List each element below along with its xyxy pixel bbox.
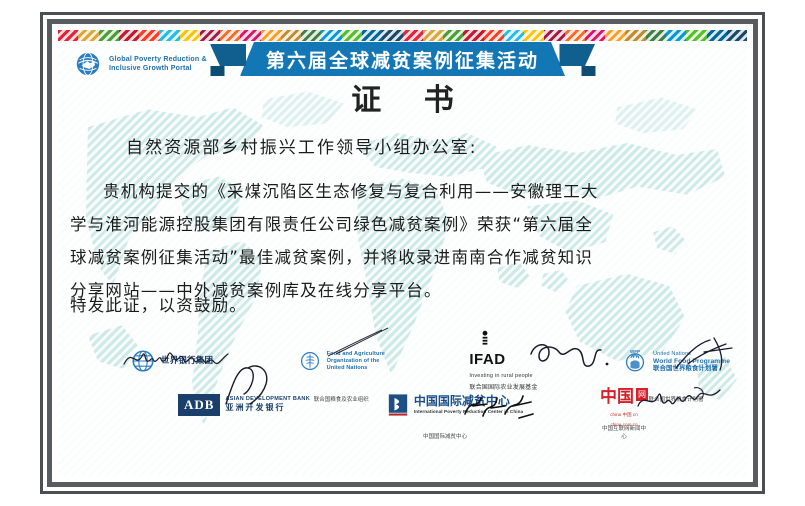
body-line-1: 学与淮河能源控股集团有限责任公司绿色减贫案例》荣获“第六届全 [70, 211, 710, 238]
world-bank-label: 世界银行集团 [161, 357, 213, 365]
org-iprcc: 中国国际减贫中心 International Poverty Reduction… [387, 382, 523, 428]
wfp-hand-icon: WFP [622, 348, 648, 374]
ifad-icon [479, 330, 491, 346]
organization-row-bottom: ADB ASIAN DEVELOPMENT BANK 亚洲开发银行 中国国际减贫… [178, 382, 648, 428]
adb-abbr: ADB [178, 394, 220, 416]
wfp-name-cn: 联合国世界粮食计划署 [653, 365, 730, 372]
org-china-org-cn: 中国 网 china 中国 cn china.com.cn 中国互联网新闻中心 [600, 382, 648, 428]
body-line-2: 球减贫案例征集活动”最佳减贫案例，并将收录进南南合作减贫知识 [70, 244, 710, 271]
china-name-cn-sub: 中国互联网新闻中心 [600, 424, 648, 440]
fao-label: Food and Agriculture Organization of the… [327, 351, 385, 372]
certificate-sheet: 第六届全球减贫案例征集活动 Global Poverty Reduction &… [58, 30, 747, 476]
ifad-name: IFAD [469, 351, 505, 368]
salutation: 自然资源部乡村振兴工作领导小组办公室: [126, 133, 478, 158]
wfp-line-2: World Food Programme [653, 358, 730, 365]
fao-line-2: Organization of the [327, 358, 385, 365]
china-url-1: china 中国 cn [610, 412, 638, 417]
body-paragraphs: 贵机构提交的《采煤沉陷区生态修复与复合利用——安徽理工大学与淮河能源控股集团有限… [70, 178, 710, 310]
globe-icon [130, 348, 156, 374]
fao-line-3: United Nations [327, 365, 385, 372]
signature-ifad [527, 338, 613, 372]
fao-line-1: Food and Agriculture [327, 351, 385, 358]
iprcc-icon [387, 393, 409, 417]
wfp-label: United Nations World Food Programme 联合国世… [653, 351, 730, 372]
org-adb: ADB ASIAN DEVELOPMENT BANK 亚洲开发银行 [178, 382, 310, 428]
iprcc-name-cn: 中国国际减贫中心 [414, 394, 523, 408]
svg-text:WFP: WFP [630, 349, 640, 354]
adb-label: ASIAN DEVELOPMENT BANK 亚洲开发银行 [225, 396, 310, 413]
china-net-badge: 网 [636, 388, 648, 401]
wfp-line-1: United Nations [653, 351, 730, 358]
certificate-page: 第六届全球减贫案例征集活动 Global Poverty Reduction &… [0, 0, 805, 506]
china-net-logo: 中国 网 [600, 382, 648, 407]
fao-wheat-icon [298, 349, 322, 373]
china-name-cn: 中国 [600, 382, 634, 407]
iprcc-name-cn-sub: 中国国际减贫中心 [377, 432, 513, 440]
closing-line: 特发此证，以资鼓励。 [70, 292, 247, 316]
page-title: 证 书 [58, 75, 747, 119]
ifad-tagline: Investing in rural people [469, 373, 532, 379]
adb-name-cn: 亚洲开发银行 [225, 402, 310, 413]
iprcc-name-en: International Poverty Reduction Center i… [414, 408, 523, 415]
world-bank-name-cn: 世界银行集团 [161, 357, 213, 365]
iprcc-label: 中国国际减贫中心 International Poverty Reduction… [414, 394, 523, 415]
body-line-0: 贵机构提交的《采煤沉陷区生态修复与复合利用——安徽理工大 [70, 178, 710, 205]
